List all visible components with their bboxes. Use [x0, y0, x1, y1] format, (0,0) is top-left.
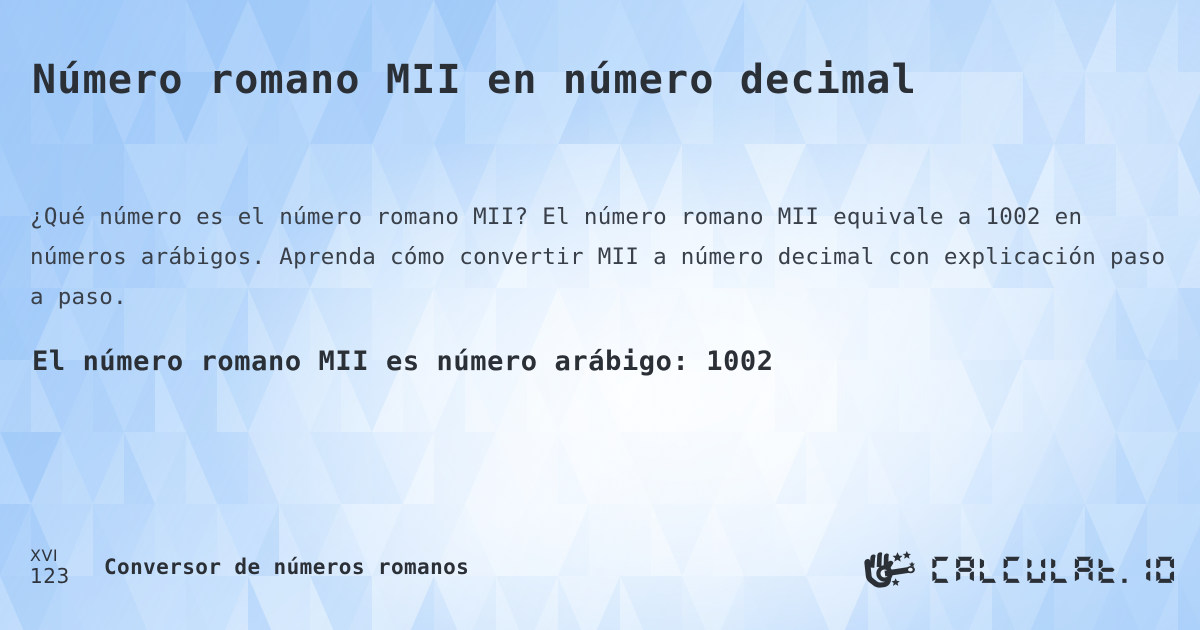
footer-tagline: Conversor de números romanos: [104, 555, 469, 579]
page-title: Número romano MII en número decimal: [32, 57, 917, 103]
hand-magic-wand-icon: [862, 549, 924, 593]
og-card-canvas: Número romano MII en número decimal ¿Qué…: [0, 0, 1200, 630]
page-description: ¿Qué número es el número romano MII? El …: [30, 197, 1170, 317]
answer-statement: El número romano MII es número arábigo: …: [32, 346, 774, 377]
brand-mark-roman: XVI: [30, 548, 70, 564]
roman-arabic-brand-mark: XVI 123: [30, 548, 70, 586]
calculatio-wordmark: CALCULAT.IO: [930, 552, 1182, 590]
brand-mark-arabic: 123: [30, 566, 70, 586]
footer: XVI 123 Conversor de números romanos: [0, 545, 1200, 605]
site-logo[interactable]: CALCULAT.IO: [862, 547, 1182, 595]
